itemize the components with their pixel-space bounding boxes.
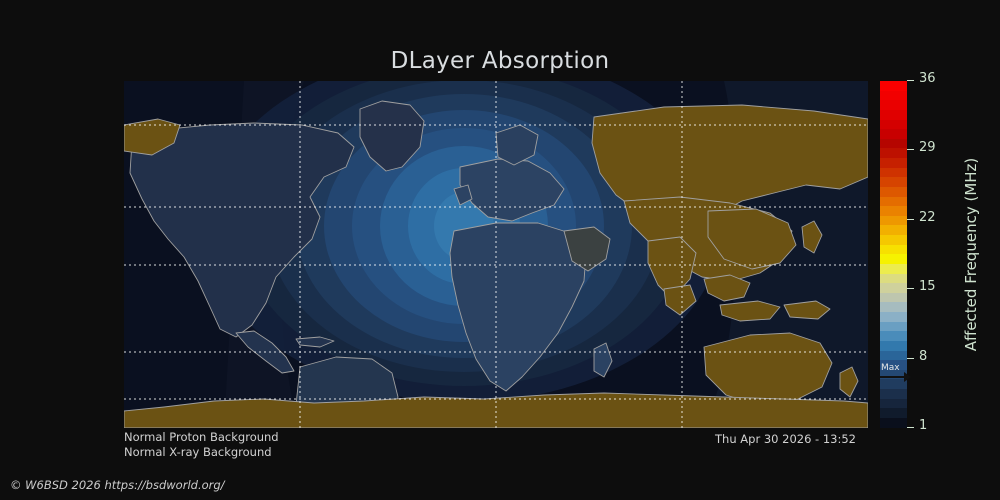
colorbar-band: [880, 312, 907, 322]
colorbar-tick-label: 36: [919, 72, 936, 86]
timestamp: Thu Apr 30 2026 - 13:52: [560, 432, 856, 446]
colorbar-tick-label: 1: [919, 419, 927, 433]
colorbar-band: [880, 187, 907, 197]
colorbar-band: [880, 418, 907, 428]
colorbar-band: [880, 100, 907, 110]
colorbar-band: [880, 264, 907, 274]
status-block: Normal Proton Background Normal X-ray Ba…: [124, 430, 279, 460]
colorbar-band: [880, 110, 907, 120]
colorbar-band: [880, 197, 907, 207]
colorbar-band: [880, 245, 907, 255]
colorbar-axis-label: Affected Frequency (MHz): [956, 81, 986, 428]
colorbar-tick-dash: [907, 149, 914, 150]
colorbar-band: [880, 235, 907, 245]
footer-copyright: © W6BSD 2026 https://bsdworld.org/: [10, 478, 225, 492]
colorbar-tick-dash: [907, 358, 914, 359]
colorbar-band: [880, 351, 907, 361]
colorbar-band: [880, 293, 907, 303]
colorbar-band: [880, 177, 907, 187]
colorbar-band: [880, 408, 907, 418]
max-marker: Max: [879, 363, 919, 387]
colorbar-tick-dash: [907, 219, 914, 220]
colorbar-tick-label: 29: [919, 141, 936, 155]
colorbar-band: [880, 216, 907, 226]
dlayer-absorption-page: DLayer Absorption: [0, 0, 1000, 500]
colorbar-band: [880, 331, 907, 341]
colorbar-tick-label: 8: [919, 350, 927, 364]
page-title: DLayer Absorption: [0, 48, 1000, 74]
colorbar-tick-dash: [907, 427, 914, 428]
colorbar-band: [880, 120, 907, 130]
colorbar-band: [880, 168, 907, 178]
colorbar-band: [880, 302, 907, 312]
proton-status: Normal Proton Background: [124, 430, 279, 445]
colorbar-band: [880, 341, 907, 351]
colorbar-tick-label: 15: [919, 280, 936, 294]
colorbar-band: [880, 158, 907, 168]
map-svg: [124, 81, 868, 428]
max-marker-arrow-head: [904, 372, 911, 382]
colorbar-band: [880, 148, 907, 158]
colorbar-band: [880, 274, 907, 284]
colorbar-band: [880, 91, 907, 101]
colorbar-band: [880, 389, 907, 399]
colorbar-band: [880, 139, 907, 149]
colorbar-band: [880, 206, 907, 216]
max-marker-arrow-line: [880, 376, 906, 378]
colorbar-band: [880, 283, 907, 293]
xray-status: Normal X-ray Background: [124, 445, 279, 460]
max-marker-label: Max: [881, 363, 900, 373]
colorbar-band: [880, 254, 907, 264]
colorbar-band: [880, 322, 907, 332]
colorbar-band: [880, 81, 907, 91]
colorbar-tick-dash: [907, 80, 914, 81]
colorbar-band: [880, 129, 907, 139]
colorbar-band: [880, 399, 907, 409]
colorbar-tick-dash: [907, 288, 914, 289]
world-map[interactable]: [124, 81, 868, 428]
colorbar-tick-label: 22: [919, 211, 936, 225]
colorbar-band: [880, 225, 907, 235]
